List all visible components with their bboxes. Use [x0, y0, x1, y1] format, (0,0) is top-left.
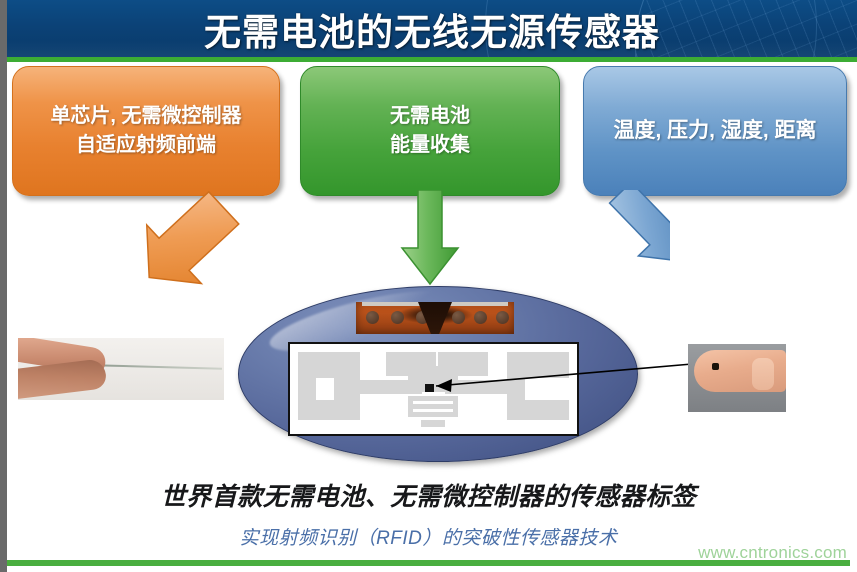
coil-trace	[408, 404, 458, 409]
rfid-sensor-tag	[288, 342, 579, 436]
coil-trace	[408, 412, 458, 417]
fingertip-chip-photo	[688, 344, 786, 412]
sensor-chip	[425, 384, 434, 392]
coil-trace	[408, 396, 413, 417]
page-title: 无需电池的无线无源传感器	[7, 0, 857, 57]
feature-box-single-chip-line2: 自适应射频前端	[76, 131, 216, 160]
green-arrow-icon	[390, 190, 470, 288]
copper-pad	[496, 311, 509, 324]
antenna-pad	[298, 400, 360, 420]
feature-box-single-chip[interactable]: 单芯片, 无需微控制器 自适应射频前端	[12, 66, 280, 196]
feature-box-sensing-types-line1: 温度, 压力, 湿度, 距离	[613, 116, 816, 146]
feature-box-no-battery[interactable]: 无需电池 能量收集	[300, 66, 560, 196]
antenna-loop-hole	[551, 380, 569, 396]
copper-pad	[366, 311, 379, 324]
feature-box-no-battery-line1: 无需电池	[390, 102, 470, 131]
caption-main: 世界首款无需电池、无需微控制器的传感器标签	[0, 477, 857, 513]
copper-contact-strip	[356, 302, 514, 334]
coil-trace	[453, 396, 458, 417]
banner-divider-rule	[7, 57, 857, 62]
blue-arrow-icon	[540, 190, 670, 295]
feature-box-no-battery-line2: 能量收集	[390, 131, 470, 160]
fingertip	[694, 350, 786, 392]
feature-box-sensing-types[interactable]: 温度, 压力, 湿度, 距离	[583, 66, 847, 196]
copper-pad	[452, 311, 465, 324]
chip-on-fingertip	[712, 363, 719, 370]
coil-block	[421, 420, 445, 427]
coil-trace	[408, 396, 458, 401]
copper-pad	[474, 311, 487, 324]
copper-pad	[391, 311, 404, 324]
orange-arrow-icon	[140, 186, 310, 296]
antenna-pad	[507, 400, 569, 420]
feature-box-single-chip-line1: 单芯片, 无需微控制器	[50, 102, 241, 131]
bottom-rule	[7, 560, 850, 566]
fingernail	[752, 358, 774, 390]
coil-block	[420, 366, 444, 376]
left-edge-strip	[0, 0, 7, 572]
thin-tag-photo	[18, 338, 224, 400]
slide-root: 无需电池的无线无源传感器 单芯片, 无需微控制器 自适应射频前端 无需电池 能量…	[0, 0, 857, 572]
title-banner: 无需电池的无线无源传感器	[7, 0, 857, 57]
antenna-loop-hole	[316, 380, 332, 396]
